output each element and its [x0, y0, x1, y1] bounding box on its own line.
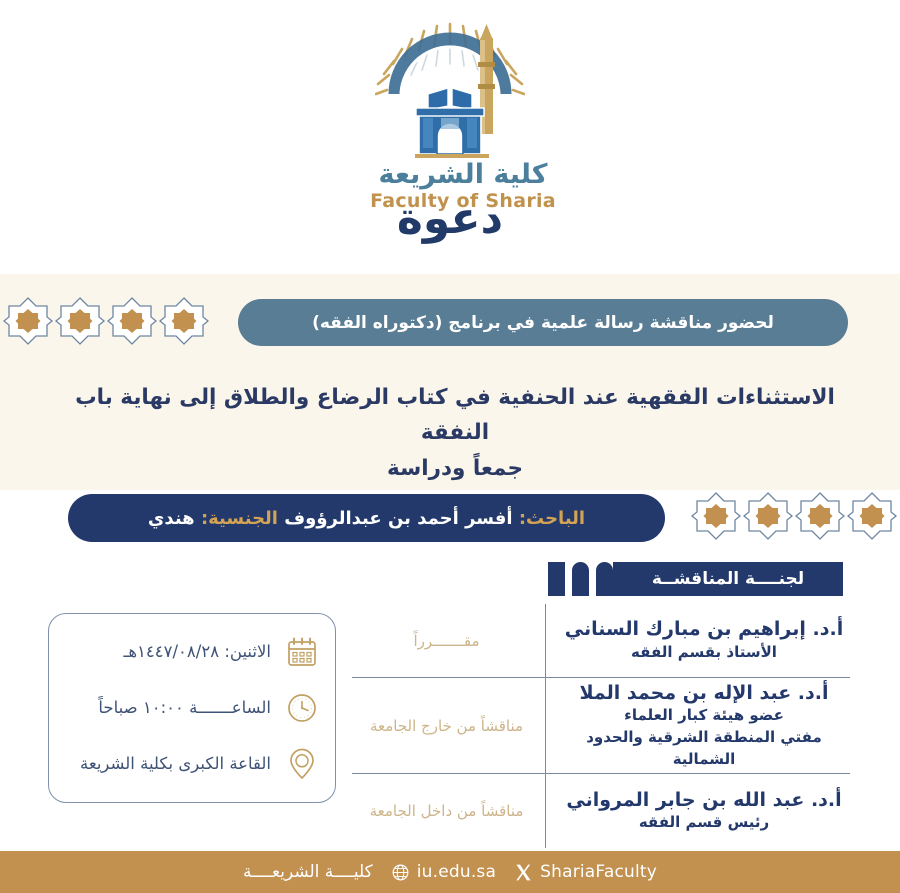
star-motif-right	[690, 490, 898, 542]
header-bar-decoration	[572, 562, 589, 596]
committee-table: أ.د. إبراهيم بن مبارك السناني الأستاذ بق…	[352, 604, 850, 848]
islamic-university-madinah-logo-icon	[375, 18, 525, 158]
event-time-text: الساعـــــــة ١٠:٠٠ صباحاً	[98, 697, 271, 718]
committee-member-subtitle: رئيس قسم الفقه	[560, 812, 848, 834]
thesis-title-line-2: جمعاً ودراسة	[60, 451, 850, 486]
nationality-label: الجنسية:	[201, 508, 278, 529]
committee-header-title: لجنــــة المناقشــة	[613, 562, 843, 596]
star-ornament	[158, 295, 210, 347]
committee-member-subtitle: الأستاذ بقسم الفقه	[560, 642, 848, 664]
committee-member-name: أ.د. عبد الله بن جابر المرواني	[560, 788, 848, 813]
table-row: أ.د. عبد الإله بن محمد الملا عضو هيئة كب…	[352, 678, 850, 774]
event-location-text: القاعة الكبرى بكلية الشريعة	[80, 753, 271, 774]
committee-member-name: أ.د. عبد الإله بن محمد الملا	[560, 681, 848, 706]
clock-icon	[285, 691, 319, 725]
committee-member-name: أ.د. إبراهيم بن مبارك السناني	[560, 617, 848, 642]
star-ornament	[690, 490, 742, 542]
event-location-row: القاعة الكبرى بكلية الشريعة	[65, 747, 319, 781]
committee-member-info: أ.د. عبد الإله بن محمد الملا عضو هيئة كب…	[545, 678, 850, 773]
star-ornament	[54, 295, 106, 347]
event-date-row: الاثنين: ١٤٤٧/٠٨/٢٨هـ	[65, 635, 319, 669]
social-handle-item[interactable]: ShariaFaculty	[514, 862, 657, 882]
website-text: iu.edu.sa	[417, 862, 496, 882]
x-twitter-icon	[514, 863, 533, 882]
invitation-purpose-banner: لحضور مناقشة رسالة علمية في برنامج (دكتو…	[238, 299, 848, 346]
invitation-poster: كلية الشريعة Faculty of Sharia دعوة	[0, 0, 900, 893]
researcher-bar: الباحث: أفسر أحمد بن عبدالرؤوف الجنسية: …	[68, 494, 665, 542]
committee-header: لجنــــة المناقشــة	[548, 562, 850, 596]
faculty-logo-block: كلية الشريعة Faculty of Sharia	[0, 18, 900, 212]
invitation-title: دعوة	[0, 197, 900, 241]
event-date-text: الاثنين: ١٤٤٧/٠٨/٢٨هـ	[124, 641, 272, 662]
star-ornament	[846, 490, 898, 542]
star-ornament	[106, 295, 158, 347]
committee-member-info: أ.د. عبد الله بن جابر المرواني رئيس قسم …	[545, 774, 850, 848]
thesis-title-line-1: الاستثناءات الفقهية عند الحنفية في كتاب …	[60, 380, 850, 451]
committee-member-role: مناقشاً من داخل الجامعة	[352, 802, 545, 820]
committee-header-bars	[548, 562, 613, 596]
social-handle-text: ShariaFaculty	[540, 862, 657, 882]
nationality-value: هندي	[148, 508, 195, 529]
logo-arabic-name: كلية الشريعة	[333, 160, 579, 190]
location-pin-icon	[285, 747, 319, 781]
footer-faculty-name: كليــــة الشريعــــة	[243, 862, 373, 882]
table-row: أ.د. إبراهيم بن مبارك السناني الأستاذ بق…	[352, 604, 850, 678]
thesis-title: الاستثناءات الفقهية عند الحنفية في كتاب …	[60, 380, 850, 486]
table-row: أ.د. عبد الله بن جابر المرواني رئيس قسم …	[352, 774, 850, 848]
committee-member-subtitle: مفتي المنطقة الشرقية والحدود الشمالية	[560, 727, 848, 771]
researcher-label: الباحث:	[519, 508, 585, 529]
committee-member-role: مناقشاً من خارج الجامعة	[352, 717, 545, 735]
event-time-row: الساعـــــــة ١٠:٠٠ صباحاً	[65, 691, 319, 725]
star-ornament	[2, 295, 54, 347]
header-bar-decoration	[548, 562, 565, 596]
researcher-name: أفسر أحمد بن عبدالرؤوف	[284, 508, 512, 529]
calendar-icon	[285, 635, 319, 669]
header-bar-decoration	[596, 562, 613, 596]
website-item[interactable]: iu.edu.sa	[391, 862, 496, 882]
star-ornament	[742, 490, 794, 542]
footer-bar: ShariaFaculty iu.edu.sa كليــــة الشريعـ…	[0, 851, 900, 893]
committee-member-subtitle: عضو هيئة كبار العلماء	[560, 705, 848, 727]
globe-icon	[391, 863, 410, 882]
star-ornament	[794, 490, 846, 542]
event-details-card: الاثنين: ١٤٤٧/٠٨/٢٨هـ الساعـــــــة ١٠:٠…	[48, 613, 336, 803]
committee-member-info: أ.د. إبراهيم بن مبارك السناني الأستاذ بق…	[545, 604, 850, 677]
star-motif-left	[2, 295, 210, 347]
committee-member-role: مقـــــــرراً	[352, 632, 545, 650]
